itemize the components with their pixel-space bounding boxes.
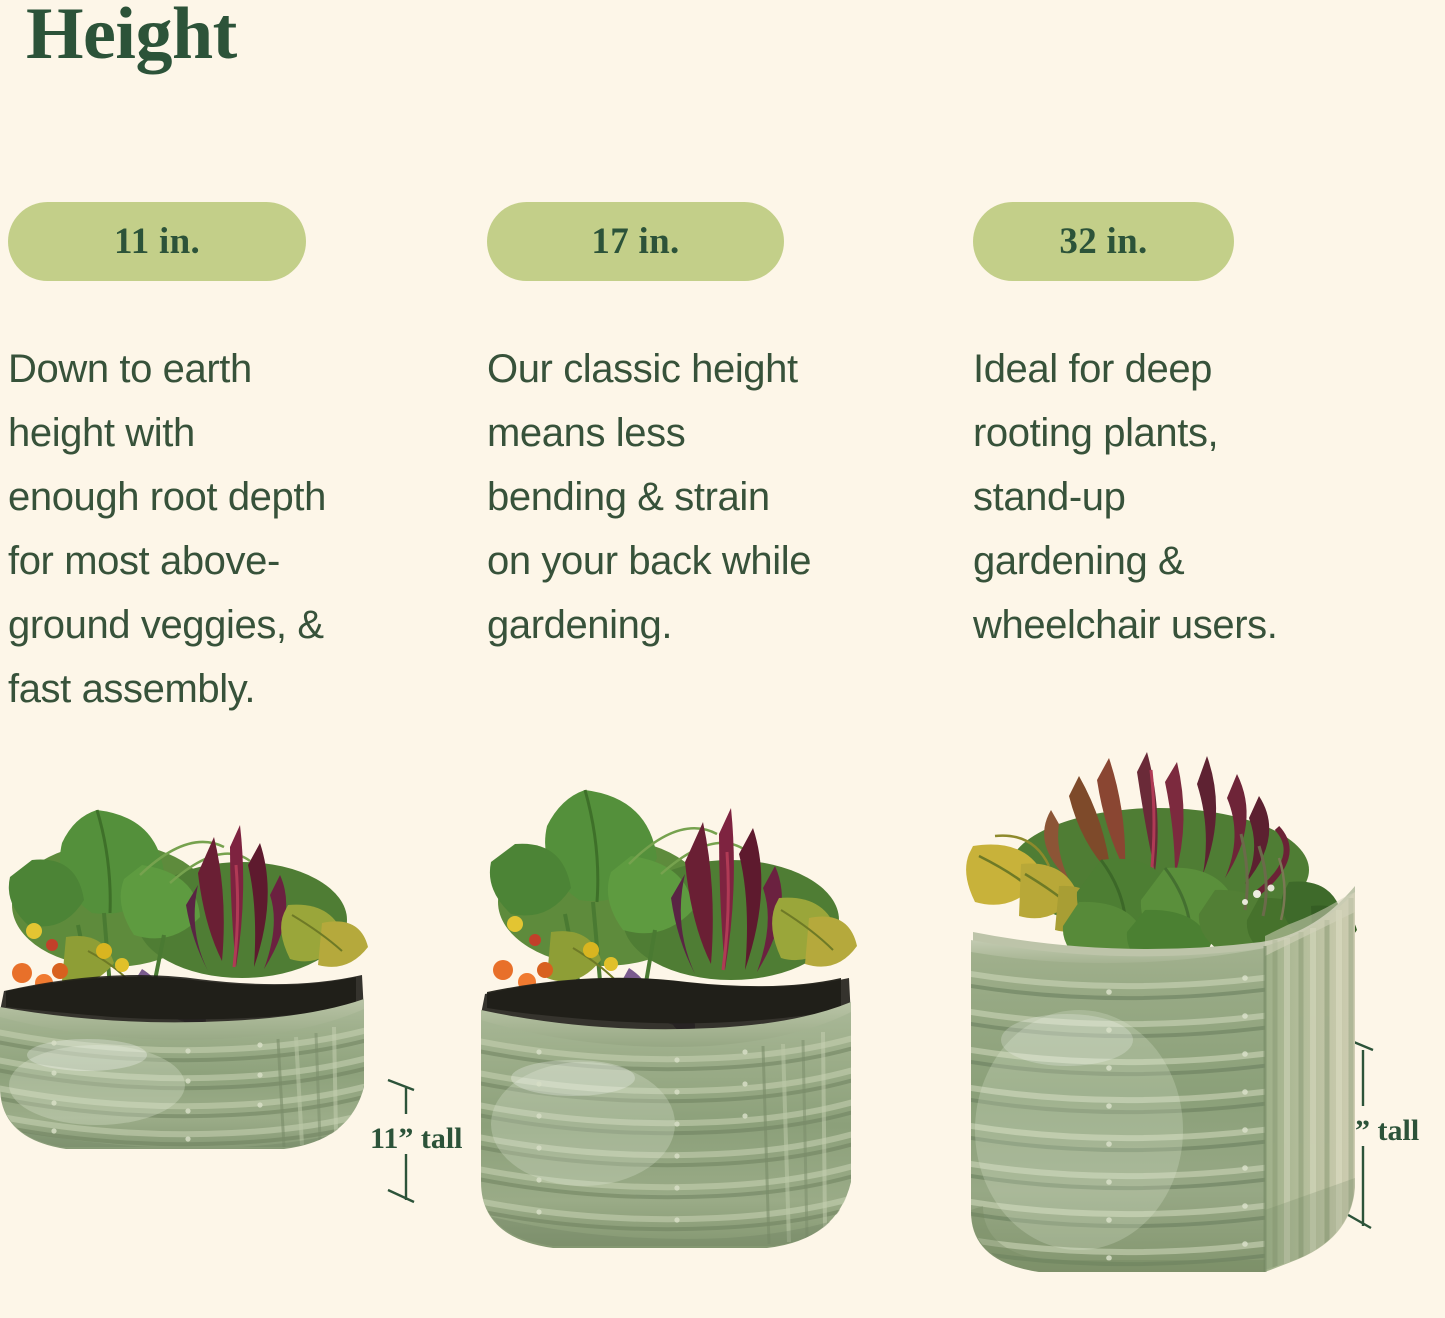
height-option-32in: 32 in. Ideal for deep rooting plants, st… (965, 0, 1435, 1318)
badge-32in[interactable]: 32 in. (973, 202, 1234, 281)
badge-32in-label: 32 in. (1059, 220, 1147, 263)
badge-17in-label: 17 in. (591, 220, 679, 263)
height-comparison-page: Height 11 in. Down to earth height with … (0, 0, 1445, 1318)
dimension-11in: 11” tall (378, 1076, 438, 1231)
badge-11in-label: 11 in. (114, 220, 200, 263)
height-option-11in: 11 in. Down to earth height with enough … (0, 0, 470, 1318)
dimension-label-11in: 11” tall (370, 1122, 463, 1156)
description-11in: Down to earth height with enough root de… (8, 337, 438, 721)
badge-17in[interactable]: 17 in. (487, 202, 784, 281)
planter-body-11in (0, 999, 392, 1155)
planter-body-17in (473, 1002, 873, 1252)
planter-image-17in (473, 752, 873, 1272)
planter-image-32in (959, 740, 1379, 1302)
badge-11in[interactable]: 11 in. (8, 202, 306, 281)
description-17in: Our classic height means less bending & … (487, 337, 907, 657)
planter-image-11in (0, 755, 392, 1255)
description-32in: Ideal for deep rooting plants, stand-up … (973, 337, 1393, 657)
height-option-17in: 17 in. Our classic height means less ben… (479, 0, 949, 1318)
